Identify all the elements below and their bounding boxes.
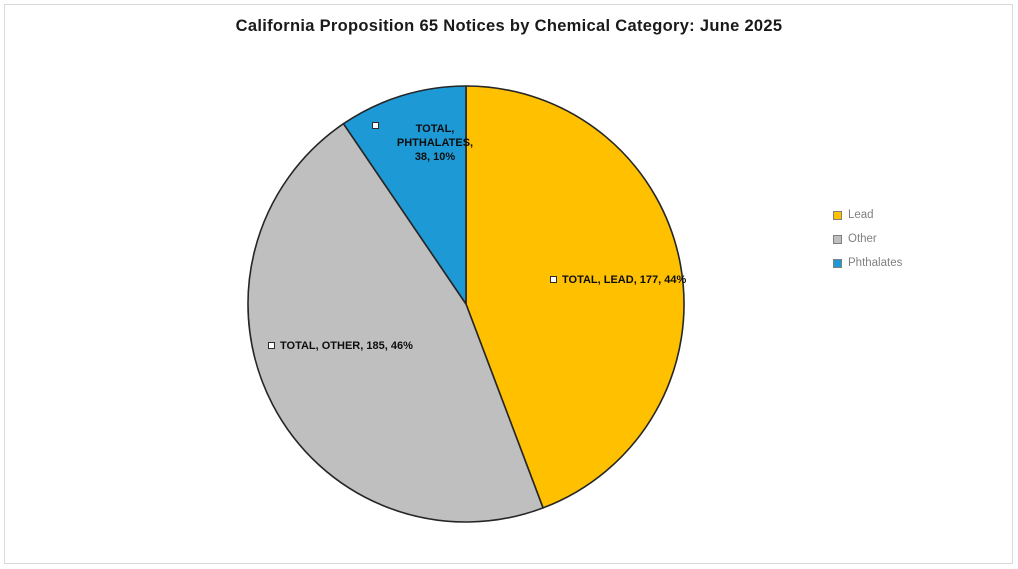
legend-item-other[interactable]: Other	[833, 227, 963, 251]
data-label-phthalates-line2: PHTHALATES,	[396, 136, 474, 150]
data-label-phthalates-line3: 38, 10%	[396, 150, 474, 164]
data-label-other-text: TOTAL, OTHER, 185, 46%	[280, 340, 413, 352]
chart-legend: Lead Other Phthalates	[833, 203, 963, 275]
label-marker-icon	[550, 276, 557, 283]
legend-swatch-lead-icon	[833, 211, 842, 220]
label-marker-icon	[372, 122, 379, 129]
data-label-other: TOTAL, OTHER, 185, 46%	[268, 339, 413, 353]
legend-item-phthalates[interactable]: Phthalates	[833, 251, 963, 275]
legend-swatch-phthalates-icon	[833, 259, 842, 268]
legend-label-other: Other	[848, 233, 877, 245]
pie-plot-area: TOTAL, LEAD, 177, 44% TOTAL, OTHER, 185,…	[0, 0, 1018, 569]
legend-item-lead[interactable]: Lead	[833, 203, 963, 227]
legend-label-phthalates: Phthalates	[848, 257, 902, 269]
data-label-lead-text: TOTAL, LEAD, 177, 44%	[562, 274, 686, 286]
pie-svg	[0, 0, 1018, 569]
label-marker-icon	[268, 342, 275, 349]
data-label-lead: TOTAL, LEAD, 177, 44%	[550, 273, 686, 287]
data-label-phthalates: TOTAL, PHTHALATES, 38, 10%	[396, 122, 474, 164]
legend-label-lead: Lead	[848, 209, 874, 221]
data-label-phthalates-line1: TOTAL,	[396, 122, 474, 136]
legend-swatch-other-icon	[833, 235, 842, 244]
chart-container: California Proposition 65 Notices by Che…	[0, 0, 1018, 569]
